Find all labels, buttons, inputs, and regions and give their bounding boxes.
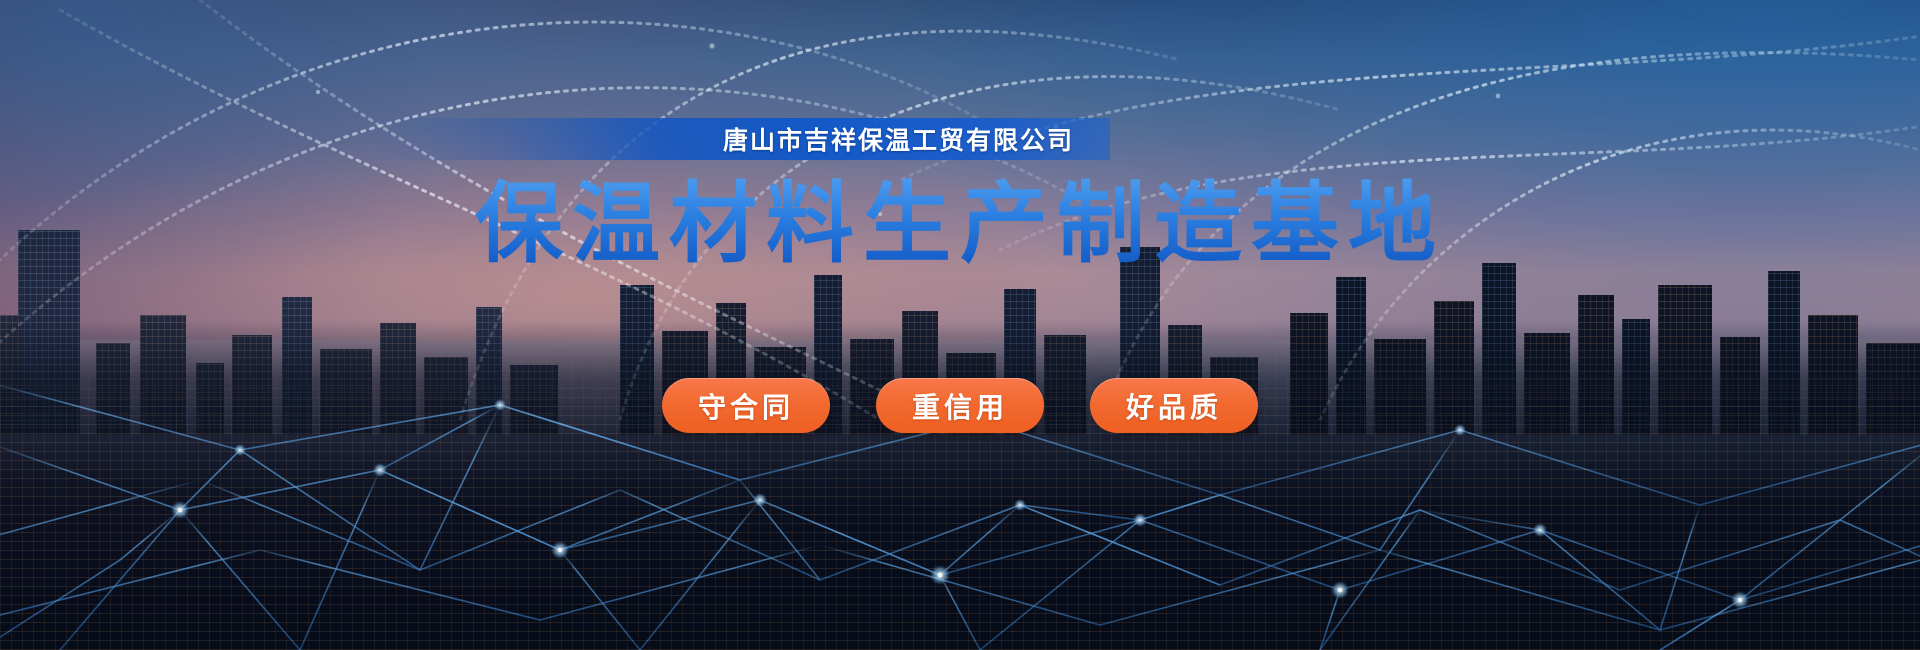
tag-pill-2[interactable]: 重信用: [876, 378, 1044, 433]
tag-pill-row: 守合同 重信用 好品质: [0, 378, 1920, 433]
tag-pill-3[interactable]: 好品质: [1090, 378, 1258, 433]
tag-pill-3-label: 好品质: [1126, 386, 1222, 426]
hero-banner: 唐山市吉祥保温工贸有限公司 保温材料生产制造基地 保温材料生产制造基地 守合同 …: [0, 0, 1920, 650]
company-name-bar: 唐山市吉祥保温工贸有限公司: [370, 118, 1110, 160]
headline-text: 保温材料生产制造基地: [469, 178, 1451, 270]
tag-pill-1[interactable]: 守合同: [662, 378, 830, 433]
tag-pill-1-label: 守合同: [698, 386, 794, 426]
banner-content: 唐山市吉祥保温工贸有限公司 保温材料生产制造基地 保温材料生产制造基地 守合同 …: [0, 0, 1920, 650]
headline: 保温材料生产制造基地 保温材料生产制造基地: [0, 178, 1920, 270]
company-name: 唐山市吉祥保温工贸有限公司: [723, 121, 1074, 157]
tag-pill-2-label: 重信用: [912, 386, 1008, 426]
